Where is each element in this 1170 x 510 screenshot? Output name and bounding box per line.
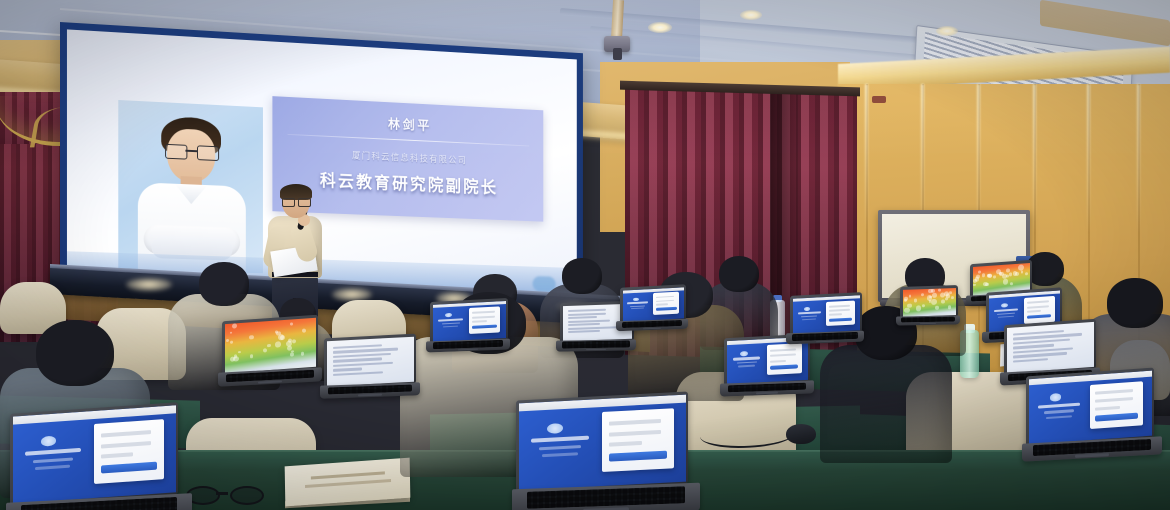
screen-text-row [568,316,597,319]
screen-speckle [916,305,922,311]
laptop[interactable] [324,336,424,399]
login-password-field[interactable] [829,309,850,312]
laptop-trackpad[interactable] [1075,453,1109,458]
login-form-card[interactable] [653,292,679,314]
screen-speckle [1015,271,1019,275]
login-subtext [997,312,1015,315]
laptop-keyboard-base[interactable] [320,382,420,398]
screen-speckle [226,339,229,342]
screen-text-row [568,319,610,322]
laptop-screen[interactable] [903,288,956,317]
laptop-trackpad[interactable] [756,392,779,395]
login-captcha-field[interactable] [609,441,642,447]
laptop-keyboard[interactable] [527,487,685,509]
laptop-trackpad[interactable] [458,348,478,350]
screen-speckle [945,297,948,300]
screen-speckle [938,289,941,292]
login-subtext [33,457,73,463]
login-form-card[interactable] [469,307,500,334]
screen-speckle [904,307,910,313]
screen-speckle [1009,272,1012,276]
laptop-screen[interactable] [225,317,316,372]
attendee-head [1107,278,1163,328]
screen-speckle [301,352,305,356]
screen-speckle [948,306,951,310]
laptop[interactable] [222,318,326,386]
laptop-trackpad[interactable] [643,328,660,330]
login-submit-button[interactable] [1095,412,1137,421]
login-branding [1036,392,1085,429]
screen-speckle [230,356,235,361]
app-logo-icon [804,306,810,310]
laptop-screen[interactable] [623,287,684,321]
login-heading [438,318,463,321]
login-captcha-field[interactable] [472,321,486,324]
screen-speckle [921,293,924,296]
login-form-card[interactable] [826,301,855,326]
login-subtext [442,322,460,324]
screen-speckle [238,351,241,354]
login-password-field[interactable] [770,354,795,357]
laptop[interactable] [1026,372,1166,460]
laptop-trackpad[interactable] [358,394,382,397]
laptop-keyboard-base[interactable] [616,319,688,332]
computer-mouse [786,424,816,444]
booklet-title-line [311,471,385,479]
downlight [936,26,958,36]
wall-sensor-icon [872,96,886,103]
login-captcha-field[interactable] [770,360,786,363]
laptop-keyboard[interactable] [792,332,858,341]
laptop-lid [516,391,688,492]
slide-portrait-photo [118,100,263,273]
laptop-lid [324,334,416,389]
login-username-field[interactable] [656,296,675,298]
login-username-field[interactable] [609,419,661,426]
downlight [648,22,672,33]
screen-speckle [1021,270,1024,273]
laptop-trackpad[interactable] [258,380,283,384]
laptop-screen[interactable] [793,295,860,334]
screen-speckle [904,296,908,300]
login-submit-button[interactable] [472,325,497,330]
laptop-screen[interactable] [433,301,506,342]
screen-speckle [250,354,254,358]
screen-speckle [280,335,285,341]
login-password-field[interactable] [101,440,151,448]
screen-speckle [935,306,939,310]
screen-text-row [333,368,362,372]
screen-speckle [931,299,937,305]
app-logo-icon [41,436,57,447]
login-heading [627,302,648,305]
login-submit-button[interactable] [656,307,677,311]
laptop-screen[interactable] [519,394,686,490]
screen-speckle [290,352,294,356]
screen-speckle [929,300,931,302]
laptop-lid [620,284,686,323]
laptop-lid [10,402,178,506]
login-submit-button[interactable] [1027,314,1051,319]
laptop-lid [430,298,508,344]
login-submit-button[interactable] [829,317,852,321]
eyeglasses-on-table [186,486,260,502]
login-username-field[interactable] [101,430,151,438]
laptop-keyboard-base[interactable] [426,339,510,353]
login-form-card[interactable] [1024,296,1055,323]
screen-speckle [922,304,925,307]
laptop-keyboard-base[interactable] [556,339,636,351]
login-password-field[interactable] [656,299,675,301]
laptop[interactable] [10,408,196,510]
login-heading [994,308,1018,312]
login-heading [1038,402,1080,408]
screen-speckle [275,342,280,348]
app-logo-icon [1001,303,1008,308]
login-subtext [1046,415,1073,419]
screen-speckle [263,348,267,353]
screen-text-row [568,330,600,333]
screen-text-row [333,371,382,376]
laptop-keyboard[interactable] [901,317,955,323]
screen-text-row [333,362,392,367]
laptop-lid [1004,319,1096,375]
screen-speckle [290,323,293,326]
app-logo-icon [740,351,748,356]
login-form-card[interactable] [767,344,802,375]
screen-speckle [982,273,986,277]
screen-speckle [909,295,912,298]
app-logo-icon [445,313,452,318]
laptop-screen[interactable] [13,405,176,503]
screen-speckle [951,297,954,300]
laptop-screen[interactable] [1029,370,1152,444]
laptop[interactable] [516,396,704,510]
login-captcha-field[interactable] [1095,406,1119,411]
laptop[interactable] [790,294,868,345]
screen-speckle [973,278,977,282]
laptop-lid [900,285,958,319]
login-password-field[interactable] [1095,397,1133,403]
downlight [740,10,762,20]
login-submit-button[interactable] [609,450,666,461]
rail-glint [126,278,172,291]
screen-speckle [999,272,1002,275]
login-branding [22,434,87,484]
login-subtext [630,305,645,307]
login-subtext [998,316,1013,318]
screen-speckle [907,303,912,308]
screen-speckle [302,328,306,333]
screen-speckle [230,331,232,333]
screen-speckle [914,299,917,302]
login-subtext [1044,409,1074,413]
laptop-lid [790,292,862,336]
laptop-trackpad[interactable] [816,340,835,342]
login-username-field[interactable] [472,311,495,314]
screen-speckle [987,273,991,278]
laptop[interactable] [724,336,818,397]
screen-speckle [1003,279,1008,284]
screen-speckle [249,335,254,340]
speaker-glasses-icon [282,198,310,205]
screen-speckle [993,276,996,279]
screen-speckle [230,341,233,344]
laptop-keyboard-base[interactable] [896,315,960,325]
laptop[interactable] [900,286,964,327]
login-subtext [35,465,70,470]
laptop-keyboard[interactable] [562,341,629,349]
app-logo-icon [1050,393,1062,401]
login-form-card[interactable] [1090,381,1143,429]
screen-speckle [941,300,945,304]
projector-mount [611,0,624,40]
login-subtext [539,445,580,450]
login-submit-button[interactable] [101,461,157,473]
login-branding [626,297,650,314]
login-captcha-field[interactable] [1027,310,1041,313]
login-subtext [542,452,578,457]
login-submit-button[interactable] [770,364,798,369]
attendee-head [562,258,602,294]
login-username-field[interactable] [1095,389,1133,395]
screen-text-row [568,313,606,316]
screen-speckle [267,344,271,348]
screen-speckle [292,339,296,343]
login-password-field[interactable] [472,316,495,319]
login-subtext [737,361,757,364]
laptop[interactable] [620,286,692,332]
attendee-head [36,320,114,386]
login-subtext [631,308,644,310]
login-heading [25,448,81,456]
laptop-trackpad[interactable] [920,323,935,325]
laptop-keyboard-base[interactable] [720,380,814,396]
login-heading [733,357,761,361]
app-logo-icon [633,297,639,301]
login-username-field[interactable] [829,305,850,308]
laptop-trackpad[interactable] [586,348,605,350]
laptop-screen[interactable] [327,336,414,386]
app-logo-icon [547,423,563,434]
screen-text-row [568,326,622,330]
login-form-card[interactable] [94,420,164,484]
laptop-lid [1026,368,1154,447]
login-username-field[interactable] [1027,301,1049,304]
login-subtext [443,325,459,327]
login-branding [797,306,824,326]
login-branding [437,312,466,333]
laptop-keyboard-base[interactable] [786,331,864,345]
screen-speckle [976,274,980,278]
laptop-keyboard[interactable] [433,340,504,349]
login-subtext [801,315,818,317]
laptop[interactable] [430,300,514,353]
login-subtext [738,365,755,367]
login-captcha-field[interactable] [829,314,842,316]
login-captcha-field[interactable] [101,452,133,458]
login-username-field[interactable] [770,349,795,352]
login-form-card[interactable] [602,409,674,472]
laptop-screen[interactable] [1007,321,1094,372]
login-password-field[interactable] [609,429,661,436]
screen-speckle [1010,282,1013,285]
login-branding [529,421,596,470]
attendee-head [199,262,249,306]
screen-text-row [1013,358,1047,363]
screen-text-row [333,353,390,358]
login-captcha-field[interactable] [656,304,668,306]
projector-lens-icon [613,48,622,60]
login-branding [731,350,763,374]
screen-speckle [978,271,981,274]
screen-speckle [1025,272,1028,275]
login-heading [798,311,821,314]
booklet-subtitle-line [305,479,391,488]
screen-text-row [568,309,606,312]
screen-speckle [232,323,237,329]
attendee-torso [820,345,952,463]
laptop-lid [222,315,318,376]
login-subtext [802,318,816,320]
screen-speckle [973,283,976,286]
login-branding [993,302,1021,323]
conference-room-photo: 林剑平 厦门科云信息科技有限公司 科云教育研究院副院长 [0,0,1170,510]
login-password-field[interactable] [1027,305,1049,308]
login-heading [531,435,588,443]
portrait-glasses-icon [165,144,217,159]
screen-speckle [291,350,293,353]
screen-speckle [932,293,937,298]
screen-text-row [568,323,600,326]
